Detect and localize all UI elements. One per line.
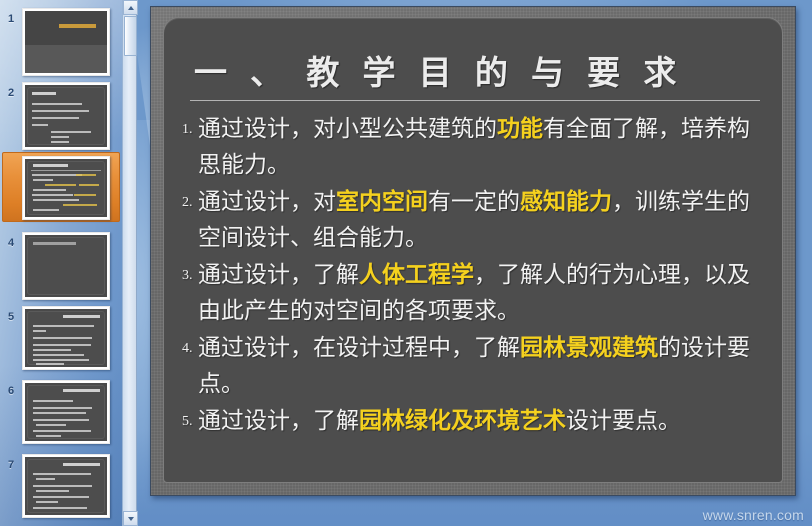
thumbnail-preview bbox=[25, 383, 107, 441]
thumbnail-item-3[interactable]: 3 bbox=[0, 156, 122, 220]
thumbnail-item-2[interactable]: 2 bbox=[0, 82, 122, 150]
thumbnail-frame[interactable] bbox=[22, 82, 110, 150]
thumbnail-number: 5 bbox=[0, 306, 22, 324]
thumbnail-item-6[interactable]: 6 bbox=[0, 380, 122, 444]
title-divider bbox=[190, 100, 760, 101]
presentation-viewer: 1 2 bbox=[0, 0, 812, 526]
thumbnail-preview bbox=[25, 235, 107, 297]
thumbnail-frame[interactable] bbox=[22, 454, 110, 518]
bullet-highlight: 人体工程学 bbox=[359, 261, 474, 287]
thumbnail-number: 4 bbox=[0, 232, 22, 250]
slide-title: 一 、 教 学 目 的 与 要 求 bbox=[194, 46, 683, 94]
thumbnail-number: 2 bbox=[0, 82, 22, 100]
scroll-down-arrow-icon[interactable] bbox=[123, 511, 138, 526]
bullet-text: 通过设计，对小型公共建筑的 bbox=[198, 115, 497, 141]
thumbnail-frame[interactable] bbox=[22, 380, 110, 444]
bullet-list: 通过设计，对小型公共建筑的功能有全面了解，培养构思能力。通过设计，对室内空间有一… bbox=[182, 110, 768, 438]
bullet-highlight: 感知能力 bbox=[520, 188, 612, 214]
thumbnail-preview bbox=[25, 457, 107, 515]
slide-canvas[interactable]: 一 、 教 学 目 的 与 要 求 通过设计，对小型公共建筑的功能有全面了解，培… bbox=[150, 6, 796, 496]
thumbnail-preview bbox=[25, 159, 107, 217]
thumbnail-frame[interactable] bbox=[22, 156, 110, 220]
bullet-text: 通过设计，了解 bbox=[198, 407, 359, 433]
watermark: www.snren.com bbox=[703, 507, 804, 523]
bullet-highlight: 园林绿化及环境艺术 bbox=[359, 407, 566, 433]
bullet-highlight: 功能 bbox=[497, 115, 543, 141]
bullet-text: 设计要点。 bbox=[566, 407, 681, 433]
bullet-text: 通过设计，了解 bbox=[198, 261, 359, 287]
thumbnail-preview bbox=[25, 11, 107, 73]
thumbnail-number: 6 bbox=[0, 380, 22, 398]
thumbnail-item-5[interactable]: 5 bbox=[0, 306, 122, 370]
thumbnail-number: 7 bbox=[0, 454, 22, 472]
bullet-item-1: 通过设计，对小型公共建筑的功能有全面了解，培养构思能力。 bbox=[182, 110, 768, 182]
bullet-text: 通过设计，对 bbox=[198, 188, 336, 214]
thumbnail-item-1[interactable]: 1 bbox=[0, 8, 122, 76]
slide-content-area: 一 、 教 学 目 的 与 要 求 通过设计，对小型公共建筑的功能有全面了解，培… bbox=[163, 17, 783, 483]
bullet-item-2: 通过设计，对室内空间有一定的感知能力，训练学生的空间设计、组合能力。 bbox=[182, 183, 768, 255]
bullet-item-4: 通过设计，在设计过程中，了解园林景观建筑的设计要点。 bbox=[182, 329, 768, 401]
slide-thumbnail-pane[interactable]: 1 2 bbox=[0, 0, 122, 526]
bullet-text: 通过设计，在设计过程中，了解 bbox=[198, 334, 520, 360]
slide-body: 通过设计，对小型公共建筑的功能有全面了解，培养构思能力。通过设计，对室内空间有一… bbox=[182, 110, 768, 474]
thumbnail-frame[interactable] bbox=[22, 306, 110, 370]
thumbnail-item-7[interactable]: 7 bbox=[0, 454, 122, 518]
thumbnail-pane-scrollbar[interactable] bbox=[122, 0, 137, 526]
thumbnail-number: 1 bbox=[0, 8, 22, 26]
bullet-text: 有一定的 bbox=[428, 188, 520, 214]
thumbnail-frame[interactable] bbox=[22, 232, 110, 300]
bullet-item-5: 通过设计，了解园林绿化及环境艺术设计要点。 bbox=[182, 402, 768, 438]
bullet-highlight: 园林景观建筑 bbox=[520, 334, 658, 360]
bullet-highlight: 室内空间 bbox=[336, 188, 428, 214]
thumbnail-preview bbox=[25, 85, 107, 147]
thumbnail-preview bbox=[25, 309, 107, 367]
scrollbar-thumb[interactable] bbox=[124, 16, 137, 56]
thumbnail-frame[interactable] bbox=[22, 8, 110, 76]
bullet-item-3: 通过设计，了解人体工程学，了解人的行为心理，以及由此产生的对空间的各项要求。 bbox=[182, 256, 768, 328]
scroll-up-arrow-icon[interactable] bbox=[123, 0, 138, 15]
thumbnail-item-4[interactable]: 4 bbox=[0, 232, 122, 300]
